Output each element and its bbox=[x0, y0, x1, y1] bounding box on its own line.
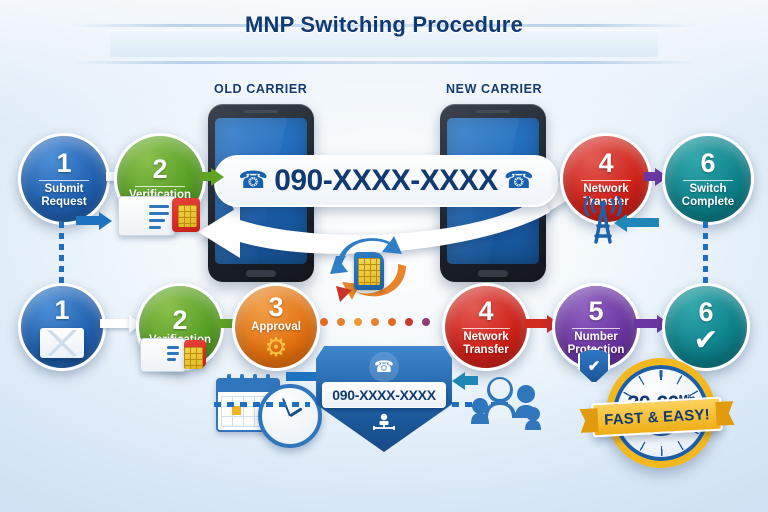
step-number: 6 bbox=[700, 150, 715, 177]
step-label: Network Transfer bbox=[445, 331, 527, 357]
arrow-back-to-tower bbox=[614, 214, 660, 231]
step-divider bbox=[572, 328, 620, 329]
step-divider bbox=[581, 180, 631, 181]
old-carrier-label: OLD CARRIER bbox=[214, 82, 307, 96]
progress-dots bbox=[320, 318, 430, 326]
id-card-icon bbox=[118, 196, 176, 236]
phone-speaker bbox=[476, 110, 510, 113]
group-users-icon bbox=[470, 372, 550, 434]
envelope-icon bbox=[40, 328, 84, 358]
progress-dot bbox=[405, 318, 413, 326]
step-number: 2 bbox=[152, 156, 167, 183]
step-divider bbox=[39, 180, 89, 181]
step-number: 1 bbox=[54, 297, 69, 324]
check-icon: ✔ bbox=[693, 326, 718, 356]
sim-card-icon bbox=[184, 340, 206, 367]
id-card-icon bbox=[140, 338, 186, 372]
progress-dot bbox=[388, 318, 396, 326]
number-protection-shield: ☎ 090-XXXX-XXXX bbox=[316, 346, 452, 452]
fast-easy-ribbon: FAST & EASY! bbox=[591, 397, 723, 438]
progress-dot bbox=[337, 318, 345, 326]
step-number: 5 bbox=[588, 298, 603, 325]
page-title: MNP Switching Procedure bbox=[0, 12, 768, 38]
dotted-line-left bbox=[214, 402, 310, 407]
connector-top1-to-bottom1 bbox=[59, 222, 64, 286]
arrow-top-2-to-phone bbox=[200, 168, 224, 185]
phone-speaker bbox=[244, 110, 278, 113]
sim-card-icon bbox=[172, 198, 200, 232]
clock-icon bbox=[258, 384, 322, 448]
banner-line-bottom bbox=[70, 61, 698, 64]
step-divider bbox=[683, 180, 733, 181]
step-number: 4 bbox=[598, 150, 613, 177]
shield-phone-number: 090-XXXX-XXXX bbox=[322, 382, 446, 408]
step-bottom-6-switch-complete[interactable]: 6 ✔ bbox=[662, 283, 750, 371]
sim-swap-icon bbox=[330, 234, 408, 306]
progress-dot bbox=[354, 318, 362, 326]
phone-number-badge: ☎ 090-XXXX-XXXX ☎ bbox=[214, 155, 558, 207]
network-share-icon bbox=[371, 412, 397, 432]
new-carrier-label: NEW CARRIER bbox=[446, 82, 542, 96]
step-label: Submit Request bbox=[21, 183, 107, 209]
step-number: 6 bbox=[698, 299, 713, 326]
arrow-to-id-card bbox=[76, 212, 112, 229]
step-bottom-3-approval[interactable]: 3 Approval ⚙ bbox=[232, 283, 320, 371]
step-number: 1 bbox=[56, 150, 71, 177]
step-divider bbox=[462, 328, 510, 329]
progress-dot bbox=[320, 318, 328, 326]
infographic-canvas: MNP Switching Procedure OLD CARRIER NEW … bbox=[0, 0, 768, 512]
phone-handset-icon-right: ☎ bbox=[504, 169, 534, 193]
shield-check-icon: ✔ bbox=[578, 348, 610, 384]
connector-top6-to-bottom6 bbox=[703, 222, 708, 286]
step-label: Switch Complete bbox=[665, 183, 751, 209]
step-top-6-switch-complete[interactable]: 6 Switch Complete bbox=[662, 133, 754, 225]
step-bottom-1-submit[interactable]: 1 bbox=[18, 283, 106, 371]
phone-handset-icon-left: ☎ bbox=[238, 169, 268, 193]
gear-icon: ⚙ bbox=[264, 334, 287, 360]
step-number: 2 bbox=[172, 307, 187, 334]
step-bottom-4-network-transfer[interactable]: 4 Network Transfer bbox=[442, 283, 530, 371]
step-divider bbox=[135, 186, 185, 187]
progress-dot bbox=[422, 318, 430, 326]
sim-card-icon bbox=[354, 252, 384, 290]
phone-number-text: 090-XXXX-XXXX bbox=[274, 164, 498, 198]
step-number: 4 bbox=[478, 298, 493, 325]
progress-dot bbox=[371, 318, 379, 326]
step-number: 3 bbox=[268, 294, 283, 321]
phone-handset-icon: ☎ bbox=[369, 352, 399, 382]
